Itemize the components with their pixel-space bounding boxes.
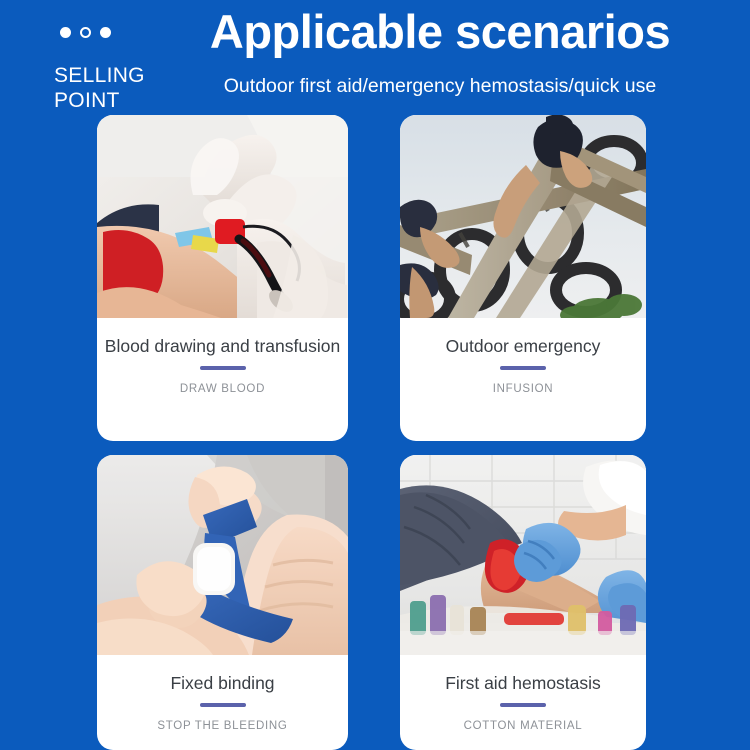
outdoor-obstacle-course-photo xyxy=(400,115,646,318)
page-title: Applicable scenarios xyxy=(170,4,710,60)
dot-hollow-middle-icon xyxy=(80,27,91,38)
card-divider xyxy=(200,703,246,707)
card-title: Fixed binding xyxy=(170,672,274,694)
decorative-dots xyxy=(60,27,111,38)
page-subtitle: Outdoor first aid/emergency hemostasis/q… xyxy=(160,73,720,99)
dot-filled-left-icon xyxy=(60,27,71,38)
fixed-binding-photo xyxy=(97,455,348,655)
card-subtitle: INFUSION xyxy=(493,383,554,395)
scenario-card-blood-drawing[interactable]: Blood drawing and transfusion DRAW BLOOD xyxy=(97,115,348,441)
card-divider xyxy=(500,703,546,707)
selling-point-line-2: POINT xyxy=(54,88,145,113)
scenario-card-first-aid-hemostasis[interactable]: First aid hemostasis COTTON MATERIAL xyxy=(400,455,646,750)
dot-filled-right-icon xyxy=(100,27,111,38)
card-subtitle: STOP THE BLEEDING xyxy=(157,720,287,732)
card-body: Blood drawing and transfusion DRAW BLOOD xyxy=(97,318,348,441)
card-body: First aid hemostasis COTTON MATERIAL xyxy=(400,655,646,750)
card-body: Outdoor emergency INFUSION xyxy=(400,318,646,441)
selling-point-badge: SELLING POINT xyxy=(54,63,145,113)
card-title: Outdoor emergency xyxy=(446,335,601,357)
scenario-card-outdoor-emergency[interactable]: Outdoor emergency INFUSION xyxy=(400,115,646,441)
card-body: Fixed binding STOP THE BLEEDING xyxy=(97,655,348,750)
card-divider xyxy=(500,366,546,370)
blood-draw-photo xyxy=(97,115,348,318)
scenario-card-fixed-binding[interactable]: Fixed binding STOP THE BLEEDING xyxy=(97,455,348,750)
card-subtitle: DRAW BLOOD xyxy=(180,383,265,395)
card-title: First aid hemostasis xyxy=(445,672,601,694)
selling-point-line-1: SELLING xyxy=(54,63,145,88)
card-subtitle: COTTON MATERIAL xyxy=(464,720,583,732)
card-divider xyxy=(200,366,246,370)
page-header: SELLING POINT Applicable scenarios Outdo… xyxy=(0,0,750,115)
first-aid-hemostasis-photo xyxy=(400,455,646,655)
card-title: Blood drawing and transfusion xyxy=(105,335,340,357)
